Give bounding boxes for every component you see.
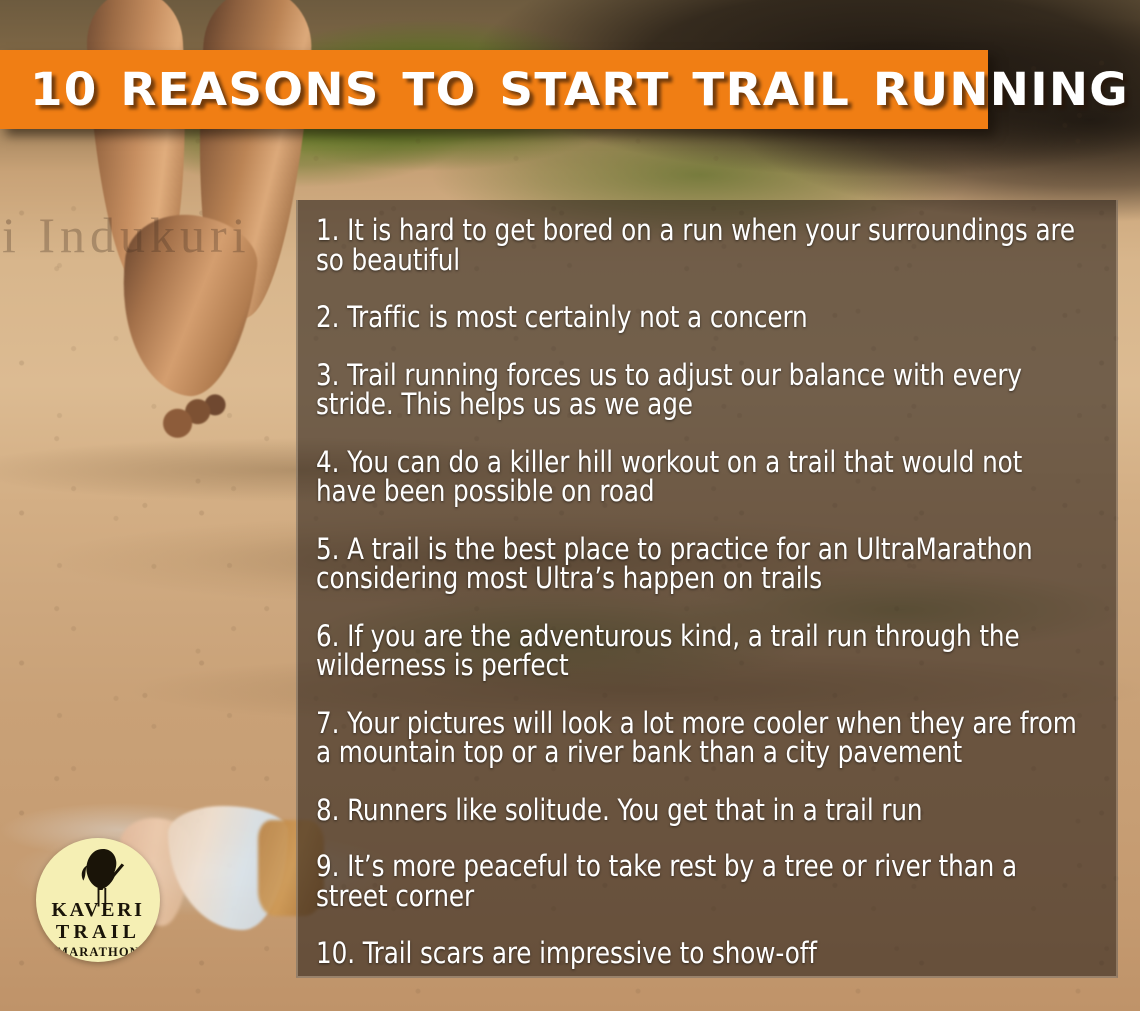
reason-item-7: 7. Your pictures will look a lot more co…: [316, 709, 1090, 768]
page-title: 10 REASONS TO START TRAIL RUNNING: [30, 63, 1129, 116]
reason-item-10: 10. Trail scars are impressive to show-o…: [316, 939, 1090, 969]
kaveri-trail-marathon-logo: KAVERI TRAIL MARATHON: [36, 838, 160, 962]
reason-item-5: 5. A trail is the best place to practice…: [316, 535, 1090, 594]
logo-line-kaveri: KAVERI: [36, 900, 160, 921]
reason-item-6: 6. If you are the adventurous kind, a tr…: [316, 622, 1090, 681]
reason-item-4: 4. You can do a killer hill workout on a…: [316, 448, 1090, 507]
infographic-poster: ni Indukuri 10 REASONS TO START TRAIL RU…: [0, 0, 1140, 1011]
logo-line-marathon: MARATHON: [36, 944, 160, 960]
logo-wordmark: KAVERI TRAIL MARATHON: [36, 900, 160, 960]
reasons-panel: 1. It is hard to get bored on a run when…: [296, 200, 1118, 978]
title-banner: 10 REASONS TO START TRAIL RUNNING: [0, 50, 988, 129]
reason-item-9: 9. It’s more peaceful to take rest by a …: [316, 852, 1090, 911]
photographer-watermark: ni Indukuri: [0, 206, 251, 264]
logo-line-trail: TRAIL: [36, 921, 160, 943]
reason-item-1: 1. It is hard to get bored on a run when…: [316, 216, 1090, 275]
reason-item-2: 2. Traffic is most certainly not a conce…: [316, 303, 1090, 333]
reason-item-3: 3. Trail running forces us to adjust our…: [316, 361, 1090, 420]
reason-item-8: 8. Runners like solitude. You get that i…: [316, 796, 1090, 826]
stork-bird-icon: [73, 847, 127, 907]
